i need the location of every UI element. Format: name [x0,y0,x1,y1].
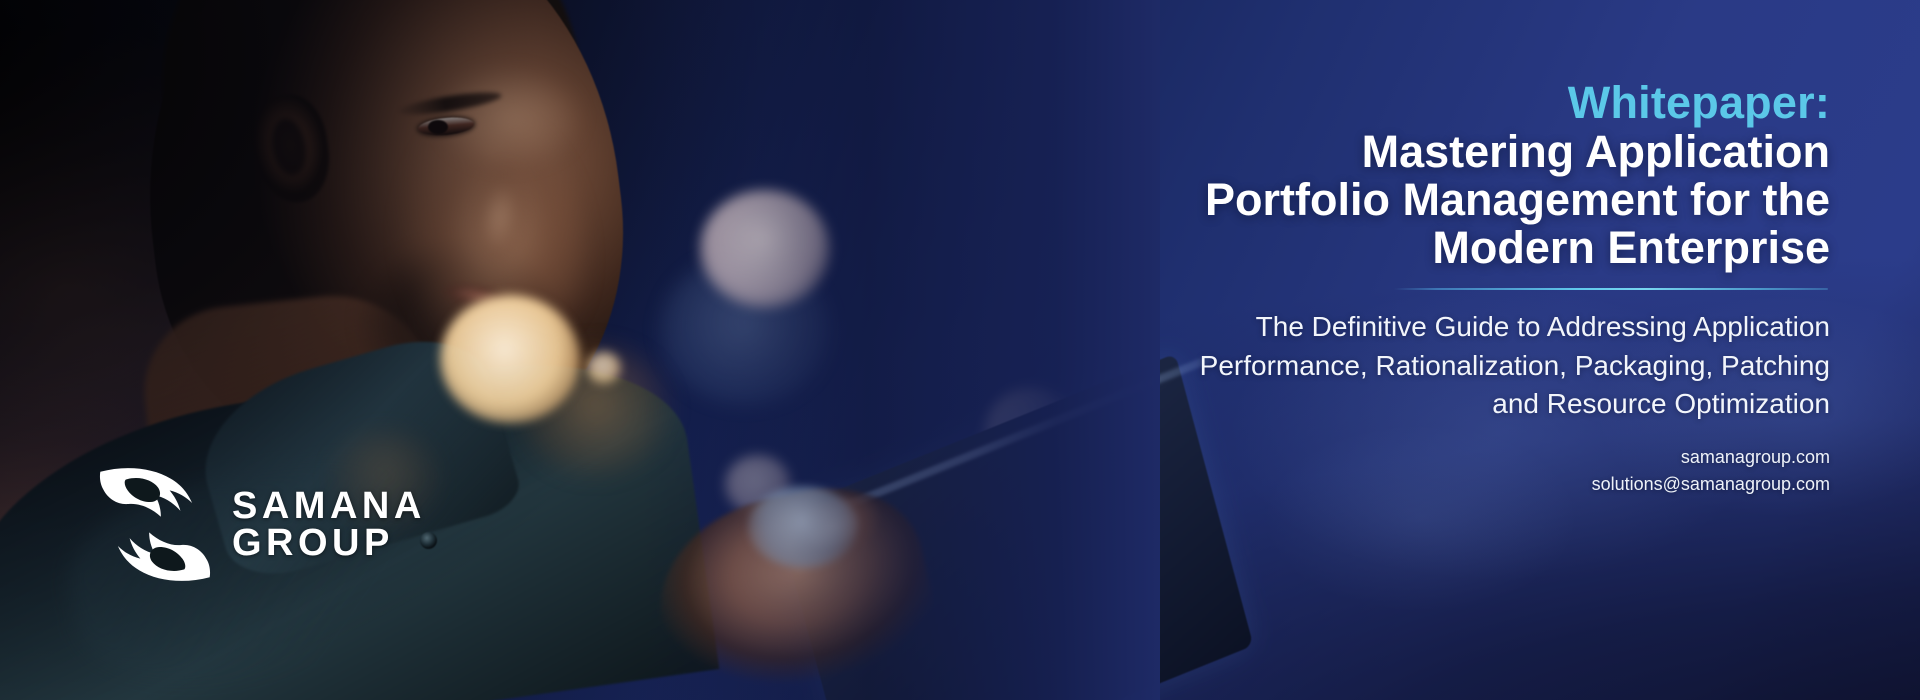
logo-wordmark: SAMANA GROUP [232,488,426,560]
title-line-1: Mastering Application [1030,128,1830,176]
subtitle-line-3: and Resource Optimization [1030,385,1830,424]
page-subtitle: The Definitive Guide to Addressing Appli… [1030,308,1830,424]
title-line-2: Portfolio Management for the [1030,176,1830,224]
kicker-whitepaper: Whitepaper: [1030,80,1830,126]
logo-word-samana: SAMANA [232,488,426,524]
contact-website[interactable]: samanagroup.com [1030,444,1830,471]
headline-panel: Whitepaper: Mastering Application Portfo… [1030,0,1830,700]
samana-group-logo: SAMANA GROUP [96,462,426,587]
samana-leaf-mark-icon [96,462,214,587]
subtitle-line-1: The Definitive Guide to Addressing Appli… [1030,308,1830,347]
kicker-text: Whitepaper: [1568,77,1830,128]
title-line-3: Modern Enterprise [1030,224,1830,272]
logo-word-group: GROUP [232,525,426,561]
contact-email[interactable]: solutions@samanagroup.com [1030,471,1830,498]
title-divider [1394,288,1828,290]
bokeh-light-warm-large [440,295,580,423]
contact-block: samanagroup.com solutions@samanagroup.co… [1030,444,1830,499]
whitepaper-banner: SAMANA GROUP Whitepaper: Mastering Appli… [0,0,1920,700]
bokeh-light-warm-small [587,352,621,384]
page-title: Mastering Application Portfolio Manageme… [1030,128,1830,272]
subtitle-line-2: Performance, Rationalization, Packaging,… [1030,347,1830,386]
